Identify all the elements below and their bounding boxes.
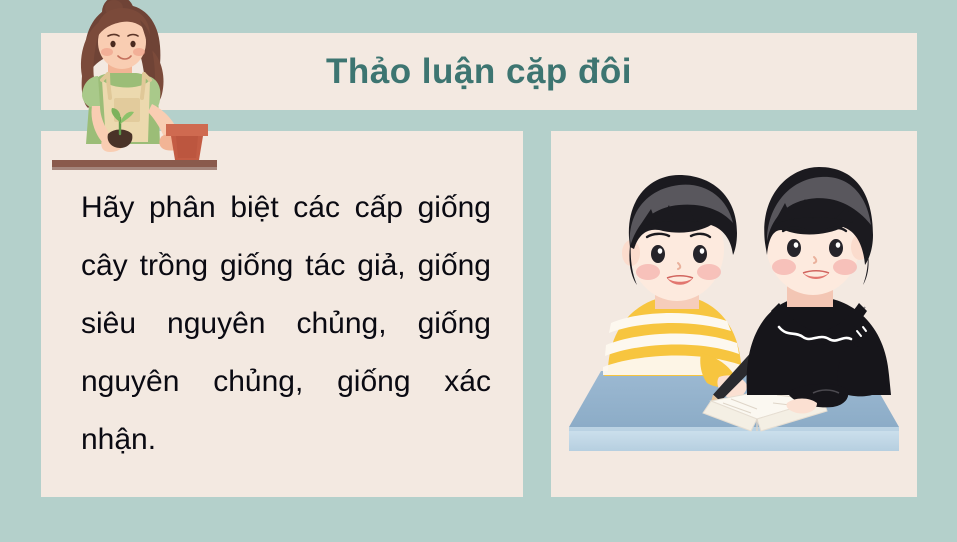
question-text: Hãy phân biệt các cấp giống cây trồng gi… <box>81 179 491 469</box>
illustration-panel <box>551 131 917 497</box>
woman-planting-illustration <box>52 0 217 174</box>
question-panel: Hãy phân biệt các cấp giống cây trồng gi… <box>41 131 523 497</box>
slide-canvas: Thảo luận cặp đôi Hãy phân biệt các cấp … <box>0 0 957 542</box>
two-students-studying-illustration <box>551 131 917 497</box>
